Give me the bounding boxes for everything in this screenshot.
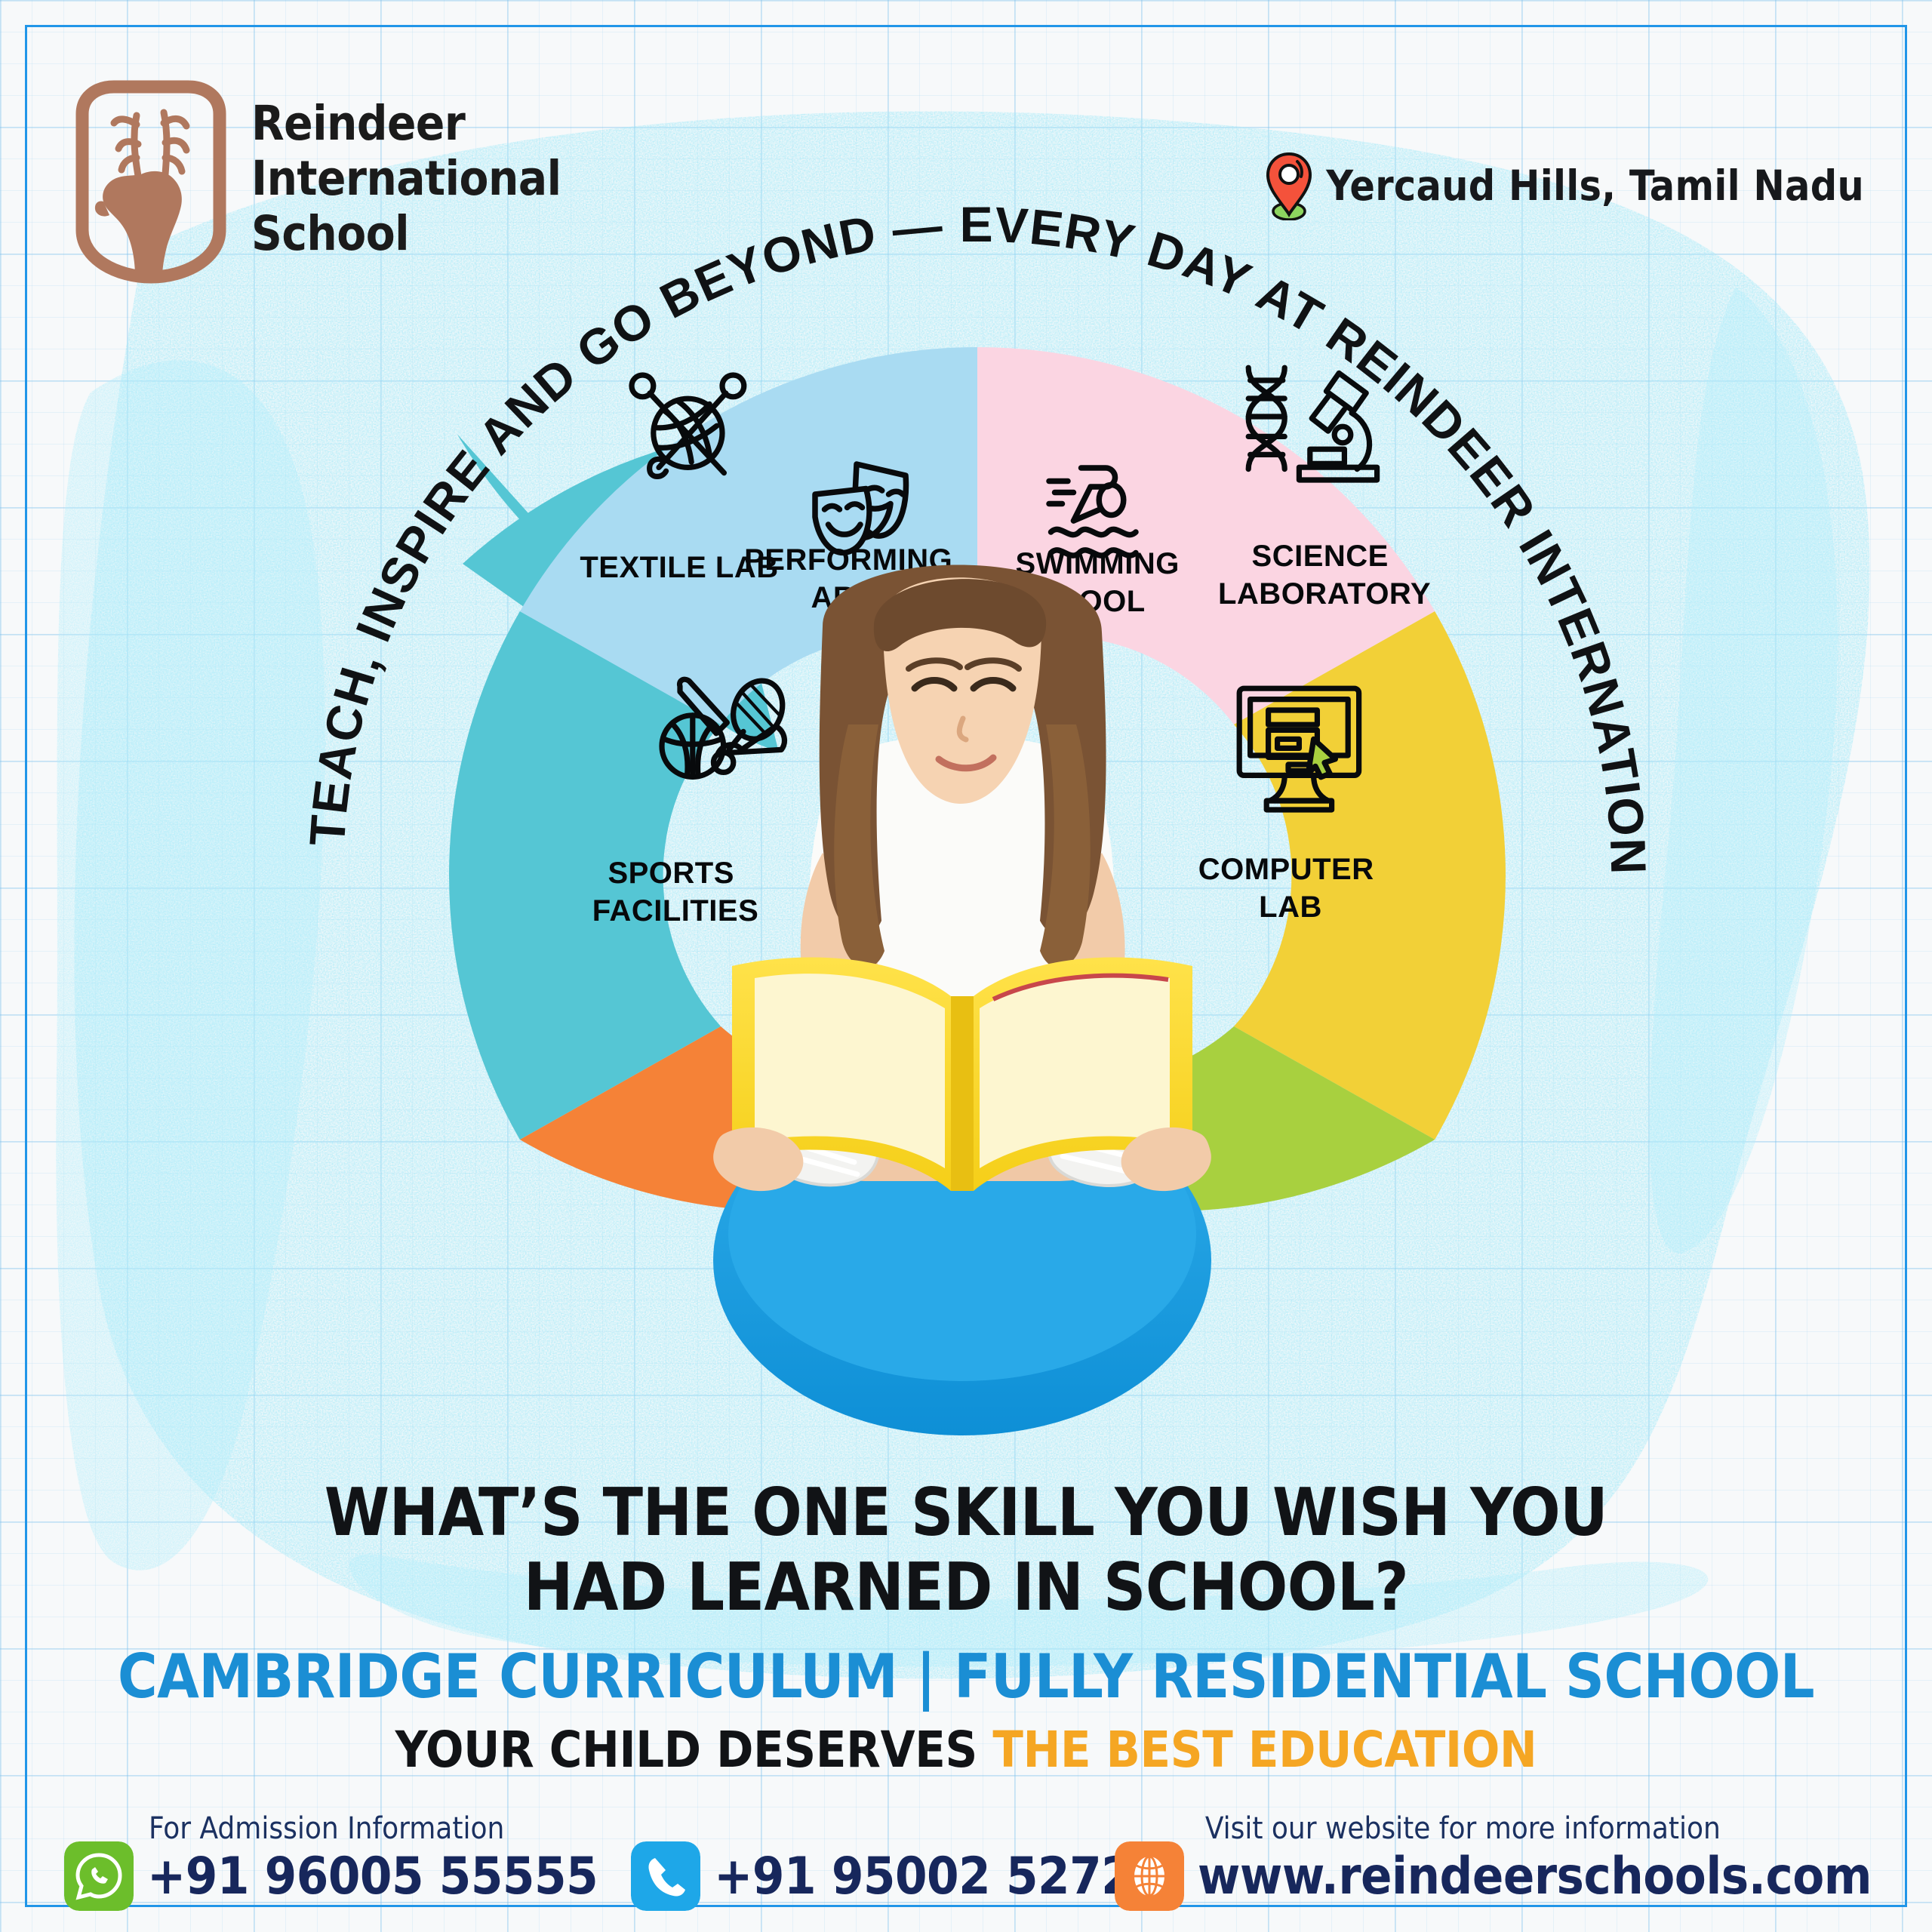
page-headline: WHAT’S THE ONE SKILL YOU WISH YOU HAD LE… — [0, 1475, 1932, 1625]
whatsapp-icon[interactable] — [64, 1841, 134, 1911]
tagline-secondary: YOUR CHILD DESERVES THE BEST EDUCATION — [0, 1721, 1932, 1779]
tagline-primary: CAMBRIDGE CURRICULUM | FULLY RESIDENTIAL… — [0, 1641, 1932, 1712]
reindeer-shield-icon — [72, 79, 230, 285]
phone-contact[interactable]: +91 95002 52728 — [631, 1841, 1164, 1911]
globe-icon[interactable] — [1115, 1841, 1184, 1911]
tagline-secondary-plain: YOUR CHILD DESERVES — [395, 1721, 993, 1779]
tagline-secondary-highlight: THE BEST EDUCATION — [992, 1721, 1537, 1779]
phone-number[interactable]: +91 95002 52728 — [714, 1847, 1164, 1906]
footer-contact-right: Visit our website for more information w… — [1115, 1811, 1872, 1911]
website-url[interactable]: www.reindeerschools.com — [1198, 1847, 1872, 1906]
footer-contact-left: For Admission Information +91 96005 5555… — [64, 1811, 1164, 1911]
girl-reading-book-photo — [574, 498, 1351, 1441]
whatsapp-number[interactable]: +91 96005 55555 — [147, 1847, 598, 1906]
phone-icon[interactable] — [631, 1841, 700, 1911]
whatsapp-contact[interactable]: +91 96005 55555 — [64, 1841, 598, 1911]
website-contact[interactable]: www.reindeerschools.com — [1115, 1841, 1872, 1911]
website-caption: Visit our website for more information — [1205, 1811, 1721, 1846]
